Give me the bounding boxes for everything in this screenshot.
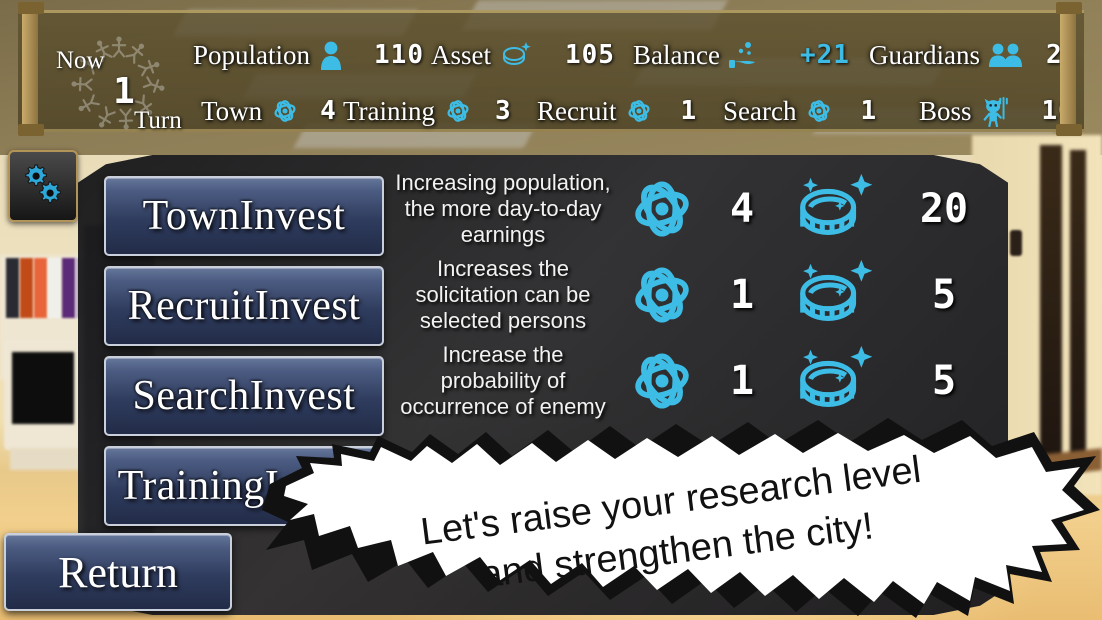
research-level: 1 (710, 358, 774, 404)
now-label: Now (56, 47, 105, 75)
research-row: Increases the solicitation can be select… (392, 252, 1002, 338)
frame-cap (18, 124, 44, 136)
monitor-stand (10, 448, 88, 470)
stat-value-population: 110 (374, 40, 424, 70)
atom-icon (624, 96, 654, 126)
stat-recruit: Recruit 1 (537, 87, 724, 135)
research-description: Increases the solicitation can be select… (392, 256, 614, 334)
research-row: Increasing population, the more day-to-d… (392, 166, 1002, 252)
return-button-label: Return (58, 547, 178, 598)
research-row: Increase the probability of occurrence o… (392, 338, 1002, 424)
research-row: It will incr (392, 424, 1002, 510)
research-level: 1 (710, 272, 774, 318)
research-cost: 5 (894, 272, 994, 318)
town-invest-label: TownInvest (143, 192, 346, 240)
game-screen: Now 1 Turn Population 110 Asset (0, 0, 1102, 620)
research-description: It will incr (392, 454, 614, 480)
frame-cap (1056, 124, 1082, 136)
stat-town: Town 4 (201, 87, 364, 135)
stat-balance: Balance +21 (633, 31, 850, 79)
book (20, 258, 33, 318)
stat-value-search: 1 (860, 96, 904, 126)
stat-row-2: Town 4 Training 3 Recruit (193, 87, 1083, 139)
book (34, 258, 47, 318)
two-people-icon (988, 42, 1024, 68)
research-level: 4 (710, 186, 774, 232)
stat-population: Population 110 (193, 31, 424, 79)
turn-counter: Now 1 Turn (48, 27, 198, 139)
atom-icon (443, 96, 473, 126)
frame-cap (18, 2, 44, 14)
atom-icon (804, 96, 834, 126)
town-invest-button[interactable]: TownInvest (104, 176, 384, 256)
research-cost: 20 (894, 186, 994, 232)
stat-label-boss: Boss (919, 96, 972, 127)
search-invest-label: SearchInvest (133, 372, 356, 420)
research-row-list: Increasing population, the more day-to-d… (392, 166, 1002, 510)
hand-coins-icon (728, 40, 760, 70)
training-invest-label: TrainingInvest (118, 462, 371, 510)
devil-icon (980, 95, 1012, 127)
stat-label-recruit: Recruit (537, 96, 616, 127)
settings-button[interactable] (8, 150, 78, 222)
coin-icon (774, 343, 894, 419)
frame-cap (1056, 2, 1082, 14)
research-cost: 5 (894, 358, 994, 404)
stat-value-training: 3 (495, 96, 539, 126)
person-icon (318, 40, 344, 70)
return-button[interactable]: Return (4, 533, 232, 611)
status-banner: Now 1 Turn Population 110 Asset (18, 10, 1084, 132)
stat-label-training: Training (343, 96, 435, 127)
gears-icon (19, 160, 67, 213)
stat-row-1: Population 110 Asset (193, 31, 1083, 83)
stat-label-asset: Asset (431, 40, 491, 71)
banner-frame-right (1060, 4, 1076, 136)
stat-label-search: Search (723, 96, 796, 127)
stat-label-guardians: Guardians (869, 40, 980, 71)
stat-label-population: Population (193, 40, 310, 71)
stat-label-town: Town (201, 96, 262, 127)
stat-value-asset: 105 (565, 40, 615, 70)
monitor-screen (12, 352, 74, 424)
stat-value-recruit: 1 (680, 96, 724, 126)
book (62, 258, 75, 318)
turn-label: Turn (134, 107, 182, 135)
research-description: Increase the probability of occurrence o… (392, 342, 614, 420)
atom-icon (614, 171, 710, 247)
stat-search: Search 1 (723, 87, 904, 135)
recruit-invest-label: RecruitInvest (128, 282, 361, 330)
coin-icon (774, 257, 894, 333)
turn-value: 1 (104, 71, 144, 112)
door-frame (1040, 145, 1062, 475)
recruit-invest-button[interactable]: RecruitInvest (104, 266, 384, 346)
invest-button-list: TownInvest RecruitInvest SearchInvest Tr… (104, 176, 384, 536)
coin-icon (774, 171, 894, 247)
stat-training: Training 3 (343, 87, 539, 135)
book (48, 258, 61, 318)
atom-icon (270, 96, 300, 126)
stat-label-balance: Balance (633, 40, 720, 71)
stat-value-balance: +21 (800, 40, 850, 70)
banner-frame-left (22, 4, 38, 136)
atom-icon (614, 343, 710, 419)
door-frame (1070, 150, 1086, 470)
search-invest-button[interactable]: SearchInvest (104, 356, 384, 436)
research-description: Increasing population, the more day-to-d… (392, 170, 614, 248)
stat-asset: Asset 105 (431, 31, 615, 79)
stat-guardians: Guardians 2 (869, 31, 1090, 79)
coin-icon (499, 40, 533, 70)
training-invest-button[interactable]: TrainingInvest (104, 446, 384, 526)
book (6, 258, 19, 318)
light-switch (1010, 230, 1022, 256)
atom-icon (614, 257, 710, 333)
stat-grid: Population 110 Asset (193, 27, 1083, 137)
